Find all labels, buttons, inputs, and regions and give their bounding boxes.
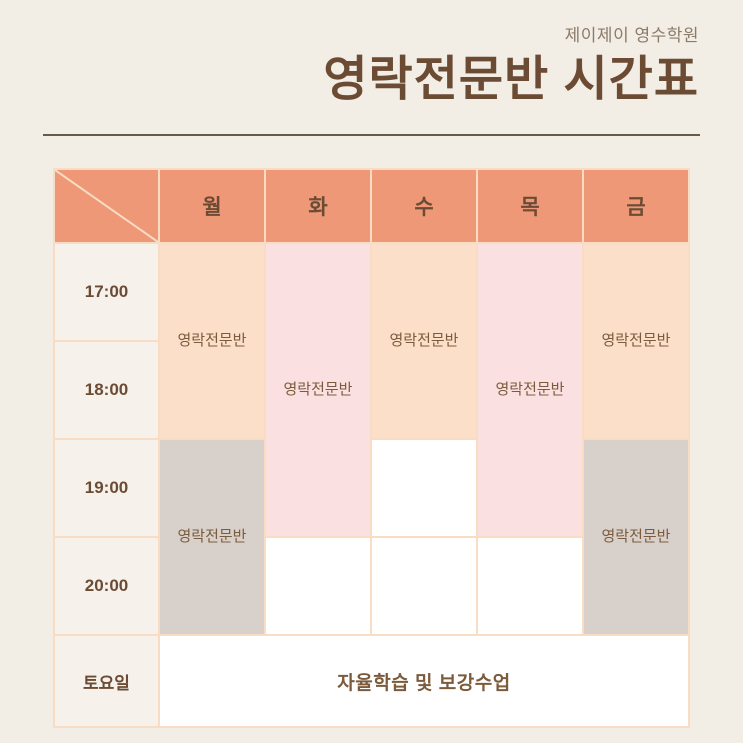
time-label-1800: 18:00 xyxy=(54,341,159,439)
slot-thu-2000[interactable] xyxy=(477,537,583,635)
day-header-wed: 수 xyxy=(371,169,477,243)
slot-thu-1700[interactable]: 영락전문반 xyxy=(477,243,583,537)
time-label-saturday: 토요일 xyxy=(54,635,159,727)
slot-fri-1900[interactable]: 영락전문반 xyxy=(583,439,689,635)
day-header-thu: 목 xyxy=(477,169,583,243)
day-header-tue: 화 xyxy=(265,169,371,243)
day-header-fri: 금 xyxy=(583,169,689,243)
day-header-mon: 월 xyxy=(159,169,265,243)
page-title: 영락전문반 시간표 xyxy=(44,52,699,107)
page-header: 제이제이 영수학원 영락전문반 시간표 xyxy=(0,0,743,107)
time-label-1700: 17:00 xyxy=(54,243,159,341)
slot-mon-1900[interactable]: 영락전문반 xyxy=(159,439,265,635)
table-header-row: 월 화 수 목 금 xyxy=(54,169,689,243)
diagonal-slash-icon xyxy=(55,170,158,242)
slot-wed-1700[interactable]: 영락전문반 xyxy=(371,243,477,439)
schedule-container: 월 화 수 목 금 17:00 영락전문반 영락전문반 영락전문반 영락전문반 … xyxy=(53,168,689,702)
title-divider xyxy=(43,134,700,136)
time-label-2000: 20:00 xyxy=(54,537,159,635)
saturday-note: 자율학습 및 보강수업 xyxy=(159,635,689,727)
slot-wed-2000[interactable] xyxy=(371,537,477,635)
table-row-saturday: 토요일 자율학습 및 보강수업 xyxy=(54,635,689,727)
slot-mon-1700[interactable]: 영락전문반 xyxy=(159,243,265,439)
slot-wed-1900[interactable] xyxy=(371,439,477,537)
table-row: 19:00 영락전문반 영락전문반 xyxy=(54,439,689,537)
slot-tue-1700[interactable]: 영락전문반 xyxy=(265,243,371,537)
slot-tue-2000[interactable] xyxy=(265,537,371,635)
schedule-table: 월 화 수 목 금 17:00 영락전문반 영락전문반 영락전문반 영락전문반 … xyxy=(53,168,690,728)
academy-brand: 제이제이 영수학원 xyxy=(44,24,699,48)
time-label-1900: 19:00 xyxy=(54,439,159,537)
slot-fri-1700[interactable]: 영락전문반 xyxy=(583,243,689,439)
table-row: 17:00 영락전문반 영락전문반 영락전문반 영락전문반 영락전문반 xyxy=(54,243,689,341)
corner-cell xyxy=(54,169,159,243)
